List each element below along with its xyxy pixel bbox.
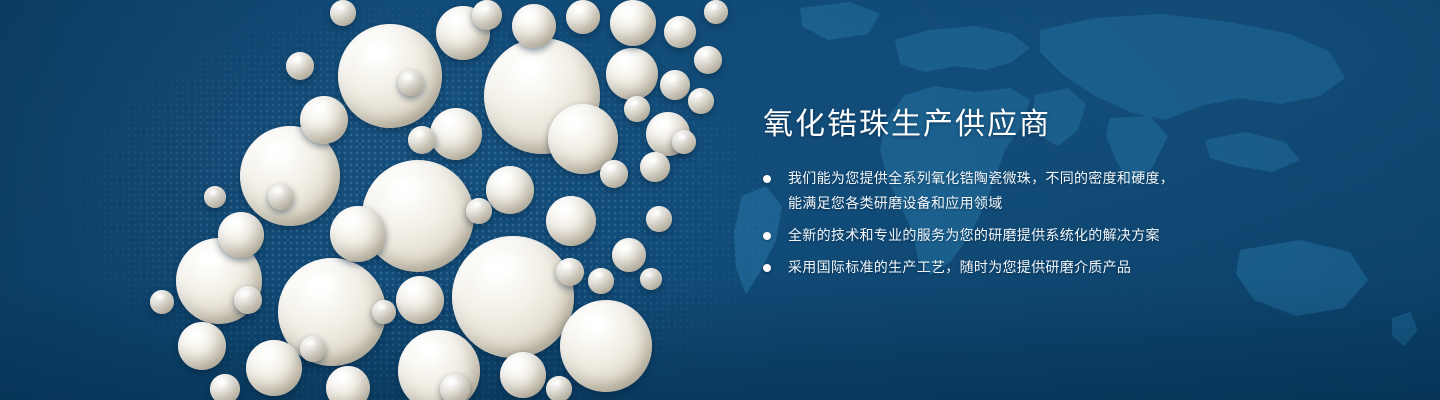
zirconia-bead-cluster-photo (0, 0, 760, 400)
bead (600, 160, 628, 188)
bead (300, 336, 326, 362)
bead (500, 352, 546, 398)
bead (178, 322, 226, 370)
list-item-line-2: 能满足您各类研磨设备和应用领域 (788, 191, 1383, 216)
bead (452, 236, 574, 358)
bead (546, 196, 596, 246)
bead (560, 300, 652, 392)
bead (396, 276, 444, 324)
bead (612, 238, 646, 272)
bead (672, 130, 696, 154)
bead (606, 48, 658, 100)
bead (660, 70, 690, 100)
bead (218, 212, 264, 258)
bead (640, 268, 662, 290)
list-item-line-1: 全新的技术和专业的服务为您的研磨提供系统化的解决方案 (788, 227, 1160, 243)
list-item-line-1: 我们能为您提供全系列氧化锆陶瓷微珠，不同的密度和硬度， (788, 170, 1174, 186)
bead (688, 88, 714, 114)
bead (624, 96, 650, 122)
bead (566, 0, 600, 34)
bead (646, 206, 672, 232)
bead (640, 152, 670, 182)
bead (300, 96, 348, 144)
bead (472, 0, 502, 30)
feature-list: 我们能为您提供全系列氧化锆陶瓷微珠，不同的密度和硬度， 能满足您各类研磨设备和应… (763, 166, 1383, 280)
bead (546, 376, 572, 400)
page-title: 氧化锆珠生产供应商 (763, 106, 1383, 144)
bead (694, 46, 722, 74)
banner-copy: 氧化锆珠生产供应商 我们能为您提供全系列氧化锆陶瓷微珠，不同的密度和硬度， 能满… (763, 106, 1383, 280)
bead (286, 52, 314, 80)
bead (326, 366, 370, 400)
bead (430, 108, 482, 160)
bead (664, 16, 696, 48)
list-item: 全新的技术和专业的服务为您的研磨提供系统化的解决方案 (763, 223, 1383, 248)
bead (246, 340, 302, 396)
bead (210, 374, 240, 400)
bead (610, 0, 656, 46)
list-item: 采用国际标准的生产工艺，随时为您提供研磨介质产品 (763, 255, 1383, 280)
hero-banner: 氧化锆珠生产供应商 我们能为您提供全系列氧化锆陶瓷微珠，不同的密度和硬度， 能满… (0, 0, 1440, 400)
bead (704, 0, 728, 24)
list-item-line-1: 采用国际标准的生产工艺，随时为您提供研磨介质产品 (788, 259, 1131, 275)
bead (204, 186, 226, 208)
bullet-dot-icon (763, 175, 771, 183)
bead (556, 258, 584, 286)
bullet-dot-icon (763, 264, 771, 272)
bead (398, 70, 424, 96)
bead (408, 126, 436, 154)
bead (466, 198, 492, 224)
bead (268, 184, 294, 210)
bead (588, 268, 614, 294)
bead (330, 0, 356, 26)
bead (338, 24, 442, 128)
bullet-dot-icon (763, 232, 771, 240)
bead (372, 300, 396, 324)
bead (440, 374, 470, 400)
bead (512, 4, 556, 48)
bead (150, 290, 174, 314)
list-item: 我们能为您提供全系列氧化锆陶瓷微珠，不同的密度和硬度， 能满足您各类研磨设备和应… (763, 166, 1383, 216)
bead (486, 166, 534, 214)
bead (330, 206, 386, 262)
bead (234, 286, 262, 314)
